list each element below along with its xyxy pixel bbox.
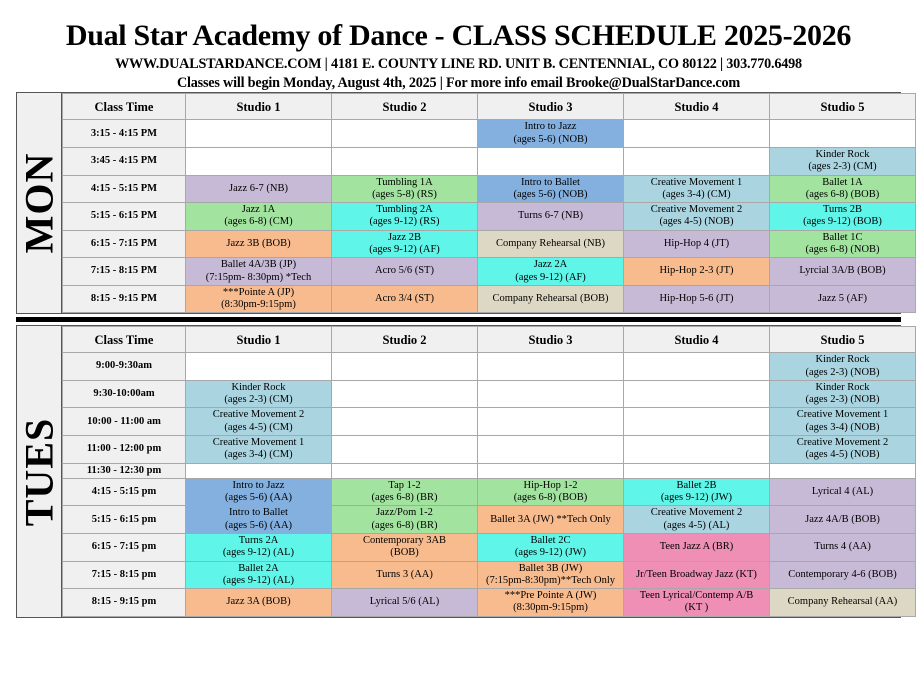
table-row: 7:15 - 8:15 pmBallet 2A(ages 9-12) (AL)T… xyxy=(63,561,916,589)
class-cell[interactable]: Lyrcial 3A/B (BOB) xyxy=(770,258,916,286)
class-name: Tumbling 1A xyxy=(334,177,475,189)
table-row: 7:15 - 8:15 PMBallet 4A/3B (JP)(7:15pm- … xyxy=(63,258,916,286)
class-detail: (ages 2-3) (NOB) xyxy=(772,367,913,379)
class-cell[interactable]: Jr/Teen Broadway Jazz (KT) xyxy=(624,561,770,589)
class-detail: (ages 4-5) (NOB) xyxy=(772,449,913,461)
day-label-mon: MON xyxy=(17,93,62,313)
class-name: Contemporary 3AB xyxy=(334,535,475,547)
column-header-class-time: Class Time xyxy=(63,327,186,353)
class-detail: (ages 9-12) (JW) xyxy=(626,492,767,504)
class-detail: (ages 5-6) (NOB) xyxy=(480,189,621,201)
class-name: Creative Movement 2 xyxy=(772,437,913,449)
table-row: 11:00 - 12:00 pmCreative Movement 1(ages… xyxy=(63,436,916,464)
class-name: Turns 2A xyxy=(188,535,329,547)
class-detail: (ages 2-3) (CM) xyxy=(772,161,913,173)
class-name: Turns 2B xyxy=(772,204,913,216)
class-cell[interactable]: Tumbling 1A(ages 5-8) (RS) xyxy=(332,175,478,203)
class-cell[interactable]: Kinder Rock(ages 2-3) (NOB) xyxy=(770,353,916,381)
class-cell-empty xyxy=(624,147,770,175)
class-cell[interactable]: Lyrical 4 (AL) xyxy=(770,478,916,506)
class-name: Intro to Jazz xyxy=(188,480,329,492)
class-cell[interactable]: Turns 4 (AA) xyxy=(770,534,916,562)
class-cell-empty xyxy=(478,463,624,478)
class-detail: (ages 9-12) (RS) xyxy=(334,216,475,228)
table-row: 11:30 - 12:30 pm xyxy=(63,463,916,478)
class-cell[interactable]: Creative Movement 1(ages 3-4) (CM) xyxy=(186,436,332,464)
table-row: 6:15 - 7:15 pmTurns 2A(ages 9-12) (AL)Co… xyxy=(63,534,916,562)
class-cell[interactable]: Lyrical 5/6 (AL) xyxy=(332,589,478,617)
class-cell-empty xyxy=(478,380,624,408)
class-cell[interactable]: Ballet 2C(ages 9-12) (JW) xyxy=(478,534,624,562)
class-name: Jazz 3A (BOB) xyxy=(188,596,329,608)
start-date-line: Classes will begin Monday, August 4th, 2… xyxy=(0,74,917,92)
class-cell[interactable]: Jazz 3A (BOB) xyxy=(186,589,332,617)
class-cell-empty xyxy=(624,463,770,478)
class-cell[interactable]: Kinder Rock(ages 2-3) (CM) xyxy=(186,380,332,408)
class-name: Kinder Rock xyxy=(188,382,329,394)
class-name: Kinder Rock xyxy=(772,382,913,394)
class-cell-empty xyxy=(624,436,770,464)
class-detail: (ages 6-8) (CM) xyxy=(188,216,329,228)
class-name: Hip-Hop 4 (JT) xyxy=(626,238,767,250)
class-cell-empty xyxy=(186,353,332,381)
contact-line: WWW.DUALSTARDANCE.COM | 4181 E. COUNTY L… xyxy=(0,55,917,73)
class-cell-empty xyxy=(332,380,478,408)
class-cell-empty xyxy=(478,408,624,436)
class-name: Jazz 3B (BOB) xyxy=(188,238,329,250)
class-detail: (7:15pm- 8:30pm) *Tech xyxy=(188,272,329,284)
column-header-studio-3: Studio 3 xyxy=(478,327,624,353)
table-row: 4:15 - 5:15 PMJazz 6-7 (NB)Tumbling 1A(a… xyxy=(63,175,916,203)
class-name: Creative Movement 1 xyxy=(188,437,329,449)
class-cell[interactable]: Company Rehearsal (AA) xyxy=(770,589,916,617)
class-name: Company Rehearsal (AA) xyxy=(772,596,913,608)
class-name: Jazz 2A xyxy=(480,259,621,271)
class-name: Ballet 2B xyxy=(626,480,767,492)
column-header-studio-4: Studio 4 xyxy=(624,327,770,353)
table-row: 5:15 - 6:15 pmIntro to Ballet(ages 5-6) … xyxy=(63,506,916,534)
column-header-class-time: Class Time xyxy=(63,94,186,120)
class-cell[interactable]: Ballet 3B (JW)(7:15pm-8:30pm)**Tech Only xyxy=(478,561,624,589)
table-row: 10:00 - 11:00 amCreative Movement 2(ages… xyxy=(63,408,916,436)
class-name: Ballet 3B (JW) xyxy=(480,563,621,575)
class-name: Intro to Jazz xyxy=(480,121,621,133)
table-row: 4:15 - 5:15 pmIntro to Jazz(ages 5-6) (A… xyxy=(63,478,916,506)
class-name: Ballet 1A xyxy=(772,177,913,189)
class-cell[interactable]: Company Rehearsal (NB) xyxy=(478,230,624,258)
class-name: Acro 5/6 (ST) xyxy=(334,265,475,277)
class-name: Turns 3 (AA) xyxy=(334,569,475,581)
class-cell-empty xyxy=(332,463,478,478)
class-cell[interactable]: Ballet 2A(ages 9-12) (AL) xyxy=(186,561,332,589)
class-cell[interactable]: Creative Movement 2(ages 4-5) (AL) xyxy=(624,506,770,534)
class-time-cell: 11:00 - 12:00 pm xyxy=(63,436,186,464)
class-cell[interactable]: Jazz 2A(ages 9-12) (AF) xyxy=(478,258,624,286)
table-row: 8:15 - 9:15 PM***Pointe A (JP)(8:30pm-9:… xyxy=(63,285,916,313)
class-name: Jazz 6-7 (NB) xyxy=(188,183,329,195)
page-header: Dual Star Academy of Dance - CLASS SCHED… xyxy=(0,0,917,92)
class-cell[interactable]: Teen Jazz A (BR) xyxy=(624,534,770,562)
class-time-cell: 8:15 - 9:15 pm xyxy=(63,589,186,617)
class-time-cell: 10:00 - 11:00 am xyxy=(63,408,186,436)
class-cell-empty xyxy=(624,408,770,436)
class-time-cell: 9:00-9:30am xyxy=(63,353,186,381)
class-cell[interactable]: Creative Movement 1(ages 3-4) (NOB) xyxy=(770,408,916,436)
class-cell[interactable]: Kinder Rock(ages 2-3) (CM) xyxy=(770,147,916,175)
class-detail: (ages 5-6) (AA) xyxy=(188,492,329,504)
class-name: Kinder Rock xyxy=(772,354,913,366)
class-cell-empty xyxy=(186,463,332,478)
class-name: Jazz 4A/B (BOB) xyxy=(772,514,913,526)
class-cell-empty xyxy=(332,353,478,381)
class-cell[interactable]: Tap 1-2(ages 6-8) (BR) xyxy=(332,478,478,506)
column-header-studio-1: Studio 1 xyxy=(186,327,332,353)
class-cell[interactable]: Creative Movement 2(ages 4-5) (NOB) xyxy=(770,436,916,464)
class-detail: (7:15pm-8:30pm)**Tech Only xyxy=(480,575,621,587)
class-name: Kinder Rock xyxy=(772,149,913,161)
class-cell[interactable]: Company Rehearsal (BOB) xyxy=(478,285,624,313)
class-name: Creative Movement 2 xyxy=(626,507,767,519)
class-cell[interactable]: Hip-Hop 4 (JT) xyxy=(624,230,770,258)
table-row: 3:45 - 4:15 PMKinder Rock(ages 2-3) (CM) xyxy=(63,147,916,175)
class-cell-empty xyxy=(478,353,624,381)
class-name: ***Pointe A (JP) xyxy=(188,287,329,299)
class-detail: (ages 2-3) (NOB) xyxy=(772,394,913,406)
class-cell[interactable]: Contemporary 3AB(BOB) xyxy=(332,534,478,562)
class-time-cell: 5:15 - 6:15 PM xyxy=(63,203,186,231)
schedule-table-mon: Class TimeStudio 1Studio 2Studio 3Studio… xyxy=(62,93,916,313)
class-name: Jazz 1A xyxy=(188,204,329,216)
class-cell[interactable]: ***Pre Pointe A (JW)(8:30pm-9:15pm) xyxy=(478,589,624,617)
class-detail: (ages 4-5) (NOB) xyxy=(626,216,767,228)
class-time-cell: 4:15 - 5:15 pm xyxy=(63,478,186,506)
class-cell[interactable]: Turns 6-7 (NB) xyxy=(478,203,624,231)
class-cell[interactable]: Jazz 1A(ages 6-8) (CM) xyxy=(186,203,332,231)
class-name: Hip-Hop 5-6 (JT) xyxy=(626,293,767,305)
class-detail: (ages 5-8) (RS) xyxy=(334,189,475,201)
class-cell-empty xyxy=(770,120,916,148)
class-name: Jazz/Pom 1-2 xyxy=(334,507,475,519)
class-name: Company Rehearsal (NB) xyxy=(480,238,621,250)
class-name: Acro 3/4 (ST) xyxy=(334,293,475,305)
class-cell-empty xyxy=(624,353,770,381)
table-row: 6:15 - 7:15 PMJazz 3B (BOB)Jazz 2B(ages … xyxy=(63,230,916,258)
day-label-text: TUES xyxy=(16,417,63,526)
class-name: Hip-Hop 1-2 xyxy=(480,480,621,492)
class-cell[interactable]: Intro to Ballet(ages 5-6) (AA) xyxy=(186,506,332,534)
class-time-cell: 7:15 - 8:15 PM xyxy=(63,258,186,286)
class-cell[interactable]: Intro to Ballet(ages 5-6) (NOB) xyxy=(478,175,624,203)
column-header-studio-5: Studio 5 xyxy=(770,327,916,353)
day-label-text: MON xyxy=(16,153,63,254)
class-detail: (ages 3-4) (CM) xyxy=(626,189,767,201)
day-block-tues: TUESClass TimeStudio 1Studio 2Studio 3St… xyxy=(16,325,901,617)
class-detail: (ages 5-6) (NOB) xyxy=(480,134,621,146)
class-detail: (ages 9-12) (AF) xyxy=(480,272,621,284)
class-cell[interactable]: Turns 2A(ages 9-12) (AL) xyxy=(186,534,332,562)
class-cell[interactable]: Intro to Jazz(ages 5-6) (NOB) xyxy=(478,120,624,148)
class-name: Lyrical 5/6 (AL) xyxy=(334,596,475,608)
table-row: 8:15 - 9:15 pmJazz 3A (BOB)Lyrical 5/6 (… xyxy=(63,589,916,617)
class-name: Jazz 2B xyxy=(334,232,475,244)
class-name: Creative Movement 1 xyxy=(772,409,913,421)
class-name: Intro to Ballet xyxy=(188,507,329,519)
column-header-studio-4: Studio 4 xyxy=(624,94,770,120)
class-cell[interactable]: Creative Movement 2(ages 4-5) (CM) xyxy=(186,408,332,436)
class-name: Creative Movement 2 xyxy=(188,409,329,421)
class-name: Ballet 1C xyxy=(772,232,913,244)
column-header-studio-2: Studio 2 xyxy=(332,327,478,353)
class-detail: (KT ) xyxy=(626,602,767,614)
class-name: Tumbling 2A xyxy=(334,204,475,216)
class-detail: (ages 6-8) (BOB) xyxy=(772,189,913,201)
class-detail: (ages 6-8) (NOB) xyxy=(772,244,913,256)
class-cell[interactable]: Creative Movement 2(ages 4-5) (NOB) xyxy=(624,203,770,231)
class-detail: (ages 4-5) (CM) xyxy=(188,422,329,434)
class-detail: (ages 9-12) (JW) xyxy=(480,547,621,559)
class-name: Tap 1-2 xyxy=(334,480,475,492)
class-name: Intro to Ballet xyxy=(480,177,621,189)
column-header-studio-3: Studio 3 xyxy=(478,94,624,120)
day-block-mon: MONClass TimeStudio 1Studio 2Studio 3Stu… xyxy=(16,92,901,314)
class-name: Ballet 3A (JW) **Tech Only xyxy=(480,514,621,526)
class-cell-empty xyxy=(332,120,478,148)
class-detail: (8:30pm-9:15pm) xyxy=(480,602,621,614)
class-detail: (ages 5-6) (AA) xyxy=(188,520,329,532)
class-cell-empty xyxy=(186,147,332,175)
schedule-tables: MONClass TimeStudio 1Studio 2Studio 3Stu… xyxy=(0,92,917,617)
class-cell-empty xyxy=(478,436,624,464)
day-label-tues: TUES xyxy=(17,326,62,616)
class-name: Hip-Hop 2-3 (JT) xyxy=(626,265,767,277)
class-time-cell: 6:15 - 7:15 PM xyxy=(63,230,186,258)
class-cell[interactable]: ***Pointe A (JP)(8:30pm-9:15pm) xyxy=(186,285,332,313)
class-time-cell: 9:30-10:00am xyxy=(63,380,186,408)
class-cell[interactable]: Turns 3 (AA) xyxy=(332,561,478,589)
class-cell[interactable]: Acro 3/4 (ST) xyxy=(332,285,478,313)
class-time-cell: 11:30 - 12:30 pm xyxy=(63,463,186,478)
class-cell[interactable]: Hip-Hop 2-3 (JT) xyxy=(624,258,770,286)
class-cell[interactable]: Kinder Rock(ages 2-3) (NOB) xyxy=(770,380,916,408)
class-cell[interactable]: Turns 2B(ages 9-12) (BOB) xyxy=(770,203,916,231)
class-name: Jazz 5 (AF) xyxy=(772,293,913,305)
class-detail: (ages 9-12) (AL) xyxy=(188,575,329,587)
class-name: Contemporary 4-6 (BOB) xyxy=(772,569,913,581)
class-cell-empty xyxy=(624,120,770,148)
class-name: Creative Movement 2 xyxy=(626,204,767,216)
class-detail: (ages 9-12) (AF) xyxy=(334,244,475,256)
class-cell-empty xyxy=(332,436,478,464)
class-cell-empty xyxy=(332,147,478,175)
column-header-studio-2: Studio 2 xyxy=(332,94,478,120)
class-name: Teen Jazz A (BR) xyxy=(626,541,767,553)
class-cell[interactable]: Ballet 1A(ages 6-8) (BOB) xyxy=(770,175,916,203)
class-cell[interactable]: Jazz 6-7 (NB) xyxy=(186,175,332,203)
class-name: Turns 6-7 (NB) xyxy=(480,210,621,222)
class-name: Creative Movement 1 xyxy=(626,177,767,189)
class-cell[interactable]: Ballet 2B(ages 9-12) (JW) xyxy=(624,478,770,506)
class-detail: (8:30pm-9:15pm) xyxy=(188,299,329,311)
class-cell[interactable]: Tumbling 2A(ages 9-12) (RS) xyxy=(332,203,478,231)
class-name: Turns 4 (AA) xyxy=(772,541,913,553)
schedule-table-tues: Class TimeStudio 1Studio 2Studio 3Studio… xyxy=(62,326,916,616)
class-time-cell: 6:15 - 7:15 pm xyxy=(63,534,186,562)
class-time-cell: 8:15 - 9:15 PM xyxy=(63,285,186,313)
class-cell-empty xyxy=(624,380,770,408)
table-row: 9:30-10:00amKinder Rock(ages 2-3) (CM)Ki… xyxy=(63,380,916,408)
class-cell[interactable]: Contemporary 4-6 (BOB) xyxy=(770,561,916,589)
class-name: Company Rehearsal (BOB) xyxy=(480,293,621,305)
table-row: 5:15 - 6:15 PMJazz 1A(ages 6-8) (CM)Tumb… xyxy=(63,203,916,231)
class-cell-empty xyxy=(478,147,624,175)
column-header-studio-1: Studio 1 xyxy=(186,94,332,120)
page-title: Dual Star Academy of Dance - CLASS SCHED… xyxy=(0,20,917,52)
class-time-cell: 3:45 - 4:15 PM xyxy=(63,147,186,175)
class-name: Jr/Teen Broadway Jazz (KT) xyxy=(626,569,767,581)
class-detail: (ages 9-12) (AL) xyxy=(188,547,329,559)
class-detail: (ages 2-3) (CM) xyxy=(188,394,329,406)
class-name: Lyrical 4 (AL) xyxy=(772,486,913,498)
class-cell[interactable]: Hip-Hop 5-6 (JT) xyxy=(624,285,770,313)
class-cell[interactable]: Jazz 3B (BOB) xyxy=(186,230,332,258)
class-detail: (ages 3-4) (NOB) xyxy=(772,422,913,434)
class-schedule-page: Dual Star Academy of Dance - CLASS SCHED… xyxy=(0,0,917,693)
class-name: ***Pre Pointe A (JW) xyxy=(480,590,621,602)
class-detail: (ages 6-8) (BR) xyxy=(334,520,475,532)
class-cell[interactable]: Ballet 3A (JW) **Tech Only xyxy=(478,506,624,534)
table-header-row: Class TimeStudio 1Studio 2Studio 3Studio… xyxy=(63,327,916,353)
class-name: Ballet 2A xyxy=(188,563,329,575)
class-detail: (ages 3-4) (CM) xyxy=(188,449,329,461)
class-time-cell: 5:15 - 6:15 pm xyxy=(63,506,186,534)
class-detail: (ages 9-12) (BOB) xyxy=(772,216,913,228)
class-cell-empty xyxy=(770,463,916,478)
class-time-cell: 3:15 - 4:15 PM xyxy=(63,120,186,148)
class-cell[interactable]: Acro 5/6 (ST) xyxy=(332,258,478,286)
class-name: Ballet 2C xyxy=(480,535,621,547)
class-cell[interactable]: Creative Movement 1(ages 3-4) (CM) xyxy=(624,175,770,203)
class-cell[interactable]: Ballet 4A/3B (JP)(7:15pm- 8:30pm) *Tech xyxy=(186,258,332,286)
class-cell-empty xyxy=(332,408,478,436)
section-divider xyxy=(16,317,901,322)
column-header-studio-5: Studio 5 xyxy=(770,94,916,120)
table-row: 3:15 - 4:15 PMIntro to Jazz(ages 5-6) (N… xyxy=(63,120,916,148)
class-name: Teen Lyrical/Contemp A/B xyxy=(626,590,767,602)
class-time-cell: 4:15 - 5:15 PM xyxy=(63,175,186,203)
class-name: Lyrcial 3A/B (BOB) xyxy=(772,265,913,277)
class-cell[interactable]: Jazz 2B(ages 9-12) (AF) xyxy=(332,230,478,258)
class-cell[interactable]: Jazz/Pom 1-2(ages 6-8) (BR) xyxy=(332,506,478,534)
class-detail: (ages 4-5) (AL) xyxy=(626,520,767,532)
class-name: Ballet 4A/3B (JP) xyxy=(188,259,329,271)
class-cell[interactable]: Ballet 1C(ages 6-8) (NOB) xyxy=(770,230,916,258)
table-header-row: Class TimeStudio 1Studio 2Studio 3Studio… xyxy=(63,94,916,120)
class-detail: (ages 6-8) (BR) xyxy=(334,492,475,504)
class-time-cell: 7:15 - 8:15 pm xyxy=(63,561,186,589)
class-cell[interactable]: Jazz 5 (AF) xyxy=(770,285,916,313)
class-cell[interactable]: Teen Lyrical/Contemp A/B(KT ) xyxy=(624,589,770,617)
class-cell[interactable]: Hip-Hop 1-2(ages 6-8) (BOB) xyxy=(478,478,624,506)
class-detail: (BOB) xyxy=(334,547,475,559)
class-cell-empty xyxy=(186,120,332,148)
table-row: 9:00-9:30amKinder Rock(ages 2-3) (NOB) xyxy=(63,353,916,381)
class-cell[interactable]: Intro to Jazz(ages 5-6) (AA) xyxy=(186,478,332,506)
class-cell[interactable]: Jazz 4A/B (BOB) xyxy=(770,506,916,534)
class-detail: (ages 6-8) (BOB) xyxy=(480,492,621,504)
